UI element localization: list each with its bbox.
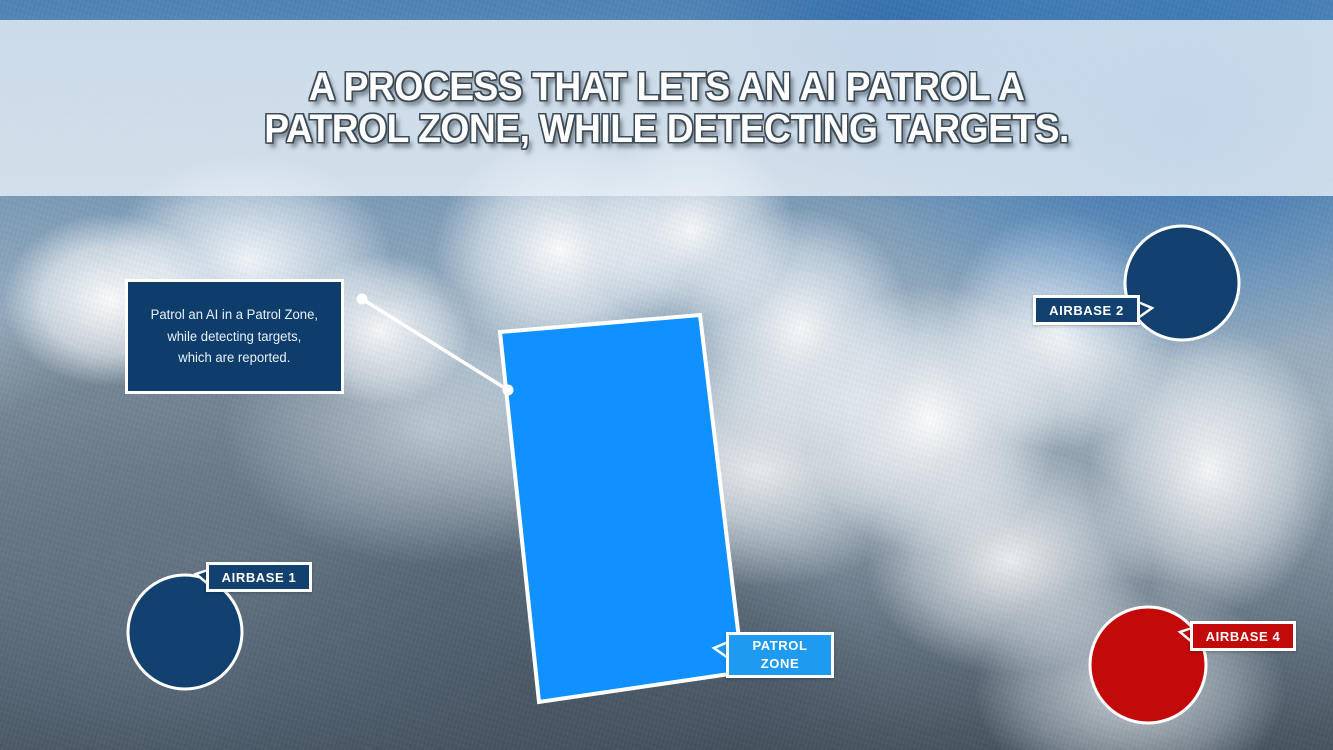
header-band: A PROCESS THAT LETS AN AI PATROL A PATRO… — [0, 20, 1333, 196]
airbase-2-label-text: AIRBASE 2 — [1049, 303, 1124, 318]
slide-canvas: A PROCESS THAT LETS AN AI PATROL A PATRO… — [0, 0, 1333, 750]
airbase-4-label-text: AIRBASE 4 — [1206, 629, 1281, 644]
patrol-zone-label-line2: ZONE — [761, 655, 800, 673]
airbase-1-label[interactable]: AIRBASE 1 — [206, 562, 312, 592]
airbase-2-label[interactable]: AIRBASE 2 — [1033, 295, 1140, 325]
patrol-zone-label-line1: PATROL — [752, 637, 807, 655]
page-title: A PROCESS THAT LETS AN AI PATROL A PATRO… — [264, 66, 1069, 151]
description-text: Patrol an AI in a Patrol Zone, while det… — [151, 304, 318, 370]
airbase-1-label-text: AIRBASE 1 — [222, 570, 297, 585]
description-box: Patrol an AI in a Patrol Zone, while det… — [125, 279, 344, 394]
patrol-zone-label[interactable]: PATROL ZONE — [726, 632, 834, 678]
airbase-4-label[interactable]: AIRBASE 4 — [1190, 621, 1296, 651]
